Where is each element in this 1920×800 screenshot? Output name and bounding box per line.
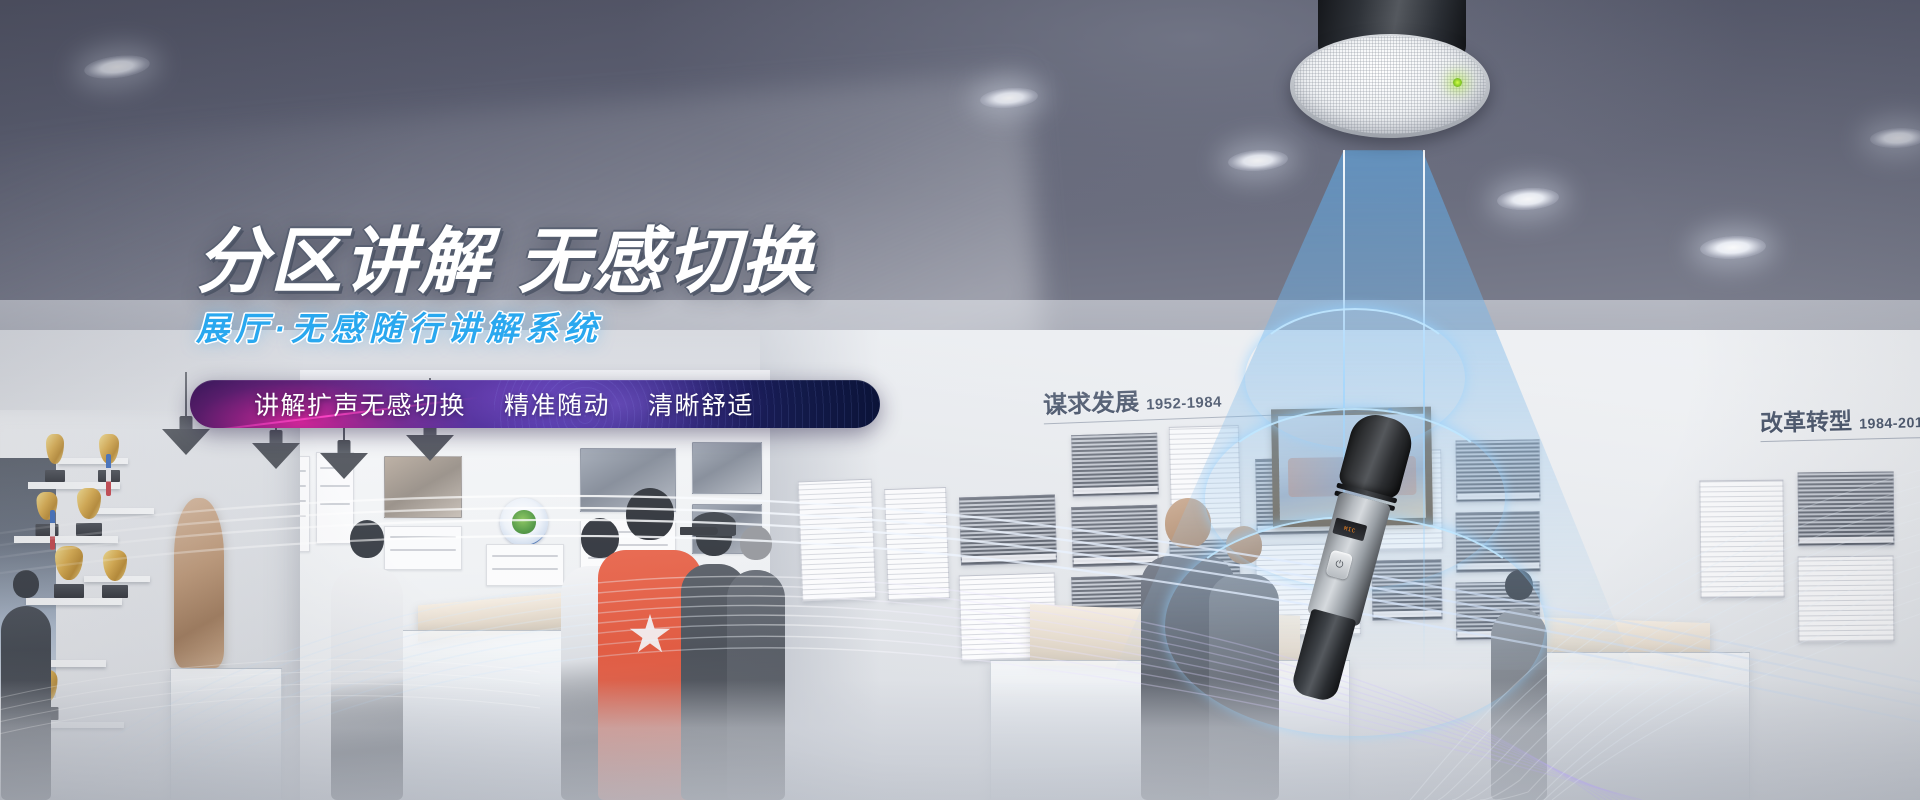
trophy	[74, 488, 104, 536]
mic-display-label: MIC	[1343, 524, 1356, 534]
exhibit-photo-board	[692, 442, 762, 494]
exhibit-photo-board	[384, 456, 462, 518]
floor-gradient	[0, 680, 1920, 800]
wall-heading-years: 1984-2010	[1859, 415, 1920, 433]
feature-list: 讲解扩声无感切换 精准随动 清晰舒适	[190, 386, 754, 422]
page-title: 分区讲解无感切换	[196, 222, 956, 302]
school-emblem-icon	[500, 498, 548, 546]
exhibit-photo-board	[1456, 439, 1541, 502]
wall-section-heading-1: 谋求发展1952-1984	[1042, 379, 1222, 421]
wall-section-heading-2: 改革转型1984-2010	[1760, 400, 1920, 438]
speaker-status-led-icon	[1453, 78, 1462, 87]
exhibit-board	[884, 487, 950, 601]
headline-part-1: 分区讲解	[196, 222, 492, 302]
page-subtitle: 展厅·无感随行讲解系统	[196, 306, 956, 352]
wall-heading-years: 1952-1984	[1146, 395, 1222, 414]
trophy-shelf	[14, 536, 118, 543]
wall-heading-title: 谋求发展	[1043, 389, 1140, 420]
feature-item-1: 讲解扩声无感切换	[254, 386, 466, 422]
trophy	[44, 434, 66, 482]
trophy	[52, 546, 86, 598]
mic-battery-grip	[1290, 608, 1357, 703]
terracotta-statue	[174, 498, 224, 668]
headline-copy-block: 分区讲解无感切换 展厅·无感随行讲解系统 讲解扩声无感切换 精准随动 清晰舒适	[196, 222, 956, 352]
headline-part-2: 无感切换	[518, 222, 814, 302]
feature-item-2: 精准随动	[504, 386, 610, 422]
exhibit-board	[486, 544, 564, 586]
exhibit-photo-board	[1798, 471, 1895, 546]
exhibit-photo-board	[1456, 511, 1541, 572]
feature-badge-pill: 讲解扩声无感切换 精准随动 清晰舒适	[190, 380, 880, 428]
exhibit-photo-board	[1071, 433, 1159, 497]
wall-heading-title: 改革转型	[1760, 408, 1853, 436]
trophy-ribbon	[50, 510, 55, 550]
trophy	[100, 550, 130, 598]
exhibit-photo-board	[959, 495, 1057, 566]
trophy	[34, 492, 60, 536]
feature-item-3: 清晰舒适	[648, 386, 754, 422]
ceiling-speaker	[1278, 0, 1498, 178]
trophy-ribbon	[106, 454, 111, 496]
exhibit-board	[798, 479, 877, 602]
exhibit-board	[1699, 480, 1784, 599]
promotional-banner: 谋求发展1952-1984 改革转型1984-2010	[0, 0, 1920, 800]
exhibit-board	[1798, 555, 1895, 642]
